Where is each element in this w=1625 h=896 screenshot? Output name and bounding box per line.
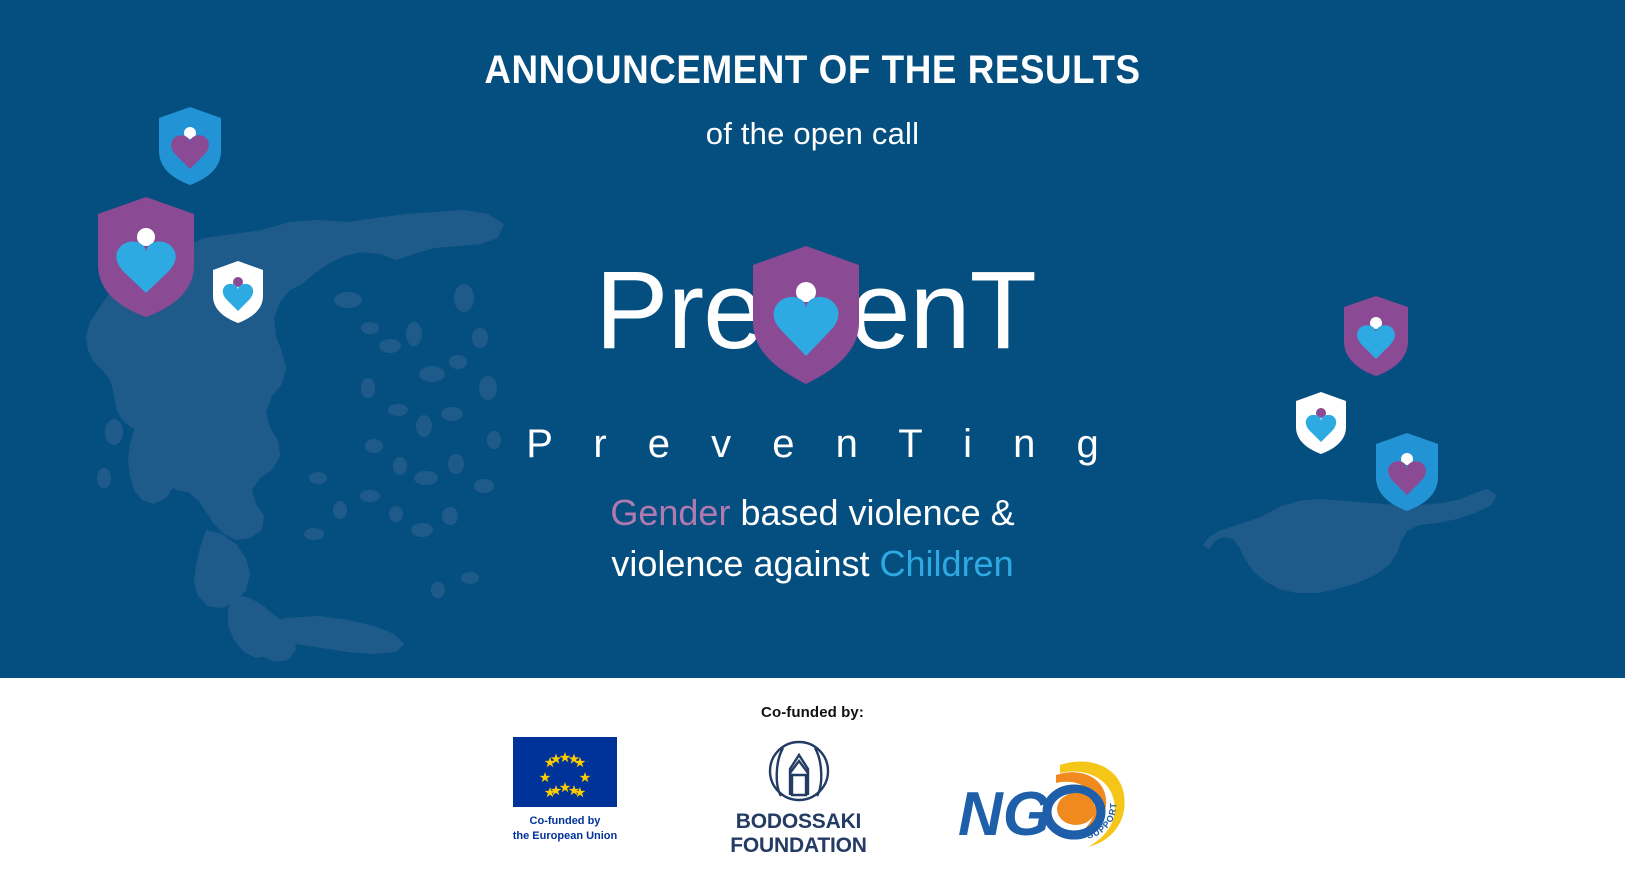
wordmark-suffix: enT bbox=[849, 256, 1036, 366]
svg-text:NG: NG bbox=[958, 780, 1051, 849]
eu-caption-line-1: Co-funded by bbox=[489, 814, 641, 829]
eu-flag-icon bbox=[513, 737, 617, 807]
eu-caption-line-2: the European Union bbox=[489, 829, 641, 844]
shield-heart-icon bbox=[753, 246, 859, 384]
ngo-support-centre-icon: NG SUPPORT CENTRE bbox=[956, 751, 1128, 851]
ngo-funder-block: NG SUPPORT CENTRE bbox=[956, 737, 1136, 851]
bodossaki-funder-block: BODOSSAKI FOUNDATION bbox=[711, 737, 886, 857]
wordmark-prefix: Pre bbox=[595, 256, 763, 366]
eu-caption: Co-funded by the European Union bbox=[489, 814, 641, 844]
hero-panel: ANNOUNCEMENT OF THE RESULTS of the open … bbox=[0, 0, 1625, 678]
prevent-logo-lockup: Pre enT P r e v e n T i n g Gender based… bbox=[0, 236, 1625, 589]
tagline-based-violence: based violence & bbox=[730, 492, 1014, 533]
tagline-description: Gender based violence & violence against… bbox=[610, 487, 1014, 589]
headline-block: ANNOUNCEMENT OF THE RESULTS of the open … bbox=[0, 0, 1625, 152]
prevent-wordmark: Pre enT bbox=[595, 236, 1036, 386]
page-subtitle: of the open call bbox=[0, 116, 1625, 152]
funder-logo-row: Co-funded by the European Union bbox=[0, 737, 1625, 857]
cofunded-label: Co-funded by: bbox=[0, 678, 1625, 721]
footer-panel: Co-funded by: bbox=[0, 678, 1625, 896]
bodossaki-name-line-1: BODOSSAKI bbox=[711, 810, 886, 834]
eu-funder-block: Co-funded by the European Union bbox=[489, 737, 641, 844]
page-title: ANNOUNCEMENT OF THE RESULTS bbox=[65, 48, 1560, 92]
bodossaki-monogram-icon bbox=[767, 739, 831, 803]
tagline-line-2: Gender based violence & bbox=[610, 487, 1014, 538]
bodossaki-name: BODOSSAKI FOUNDATION bbox=[711, 810, 886, 857]
tagline-line-3: violence against Children bbox=[610, 538, 1014, 589]
tagline-children: Children bbox=[880, 543, 1014, 584]
bodossaki-name-line-2: FOUNDATION bbox=[711, 834, 886, 858]
tagline-preventing: P r e v e n T i n g bbox=[511, 422, 1113, 467]
tagline-gender: Gender bbox=[610, 492, 730, 533]
tagline-violence-against: violence against bbox=[611, 543, 879, 584]
